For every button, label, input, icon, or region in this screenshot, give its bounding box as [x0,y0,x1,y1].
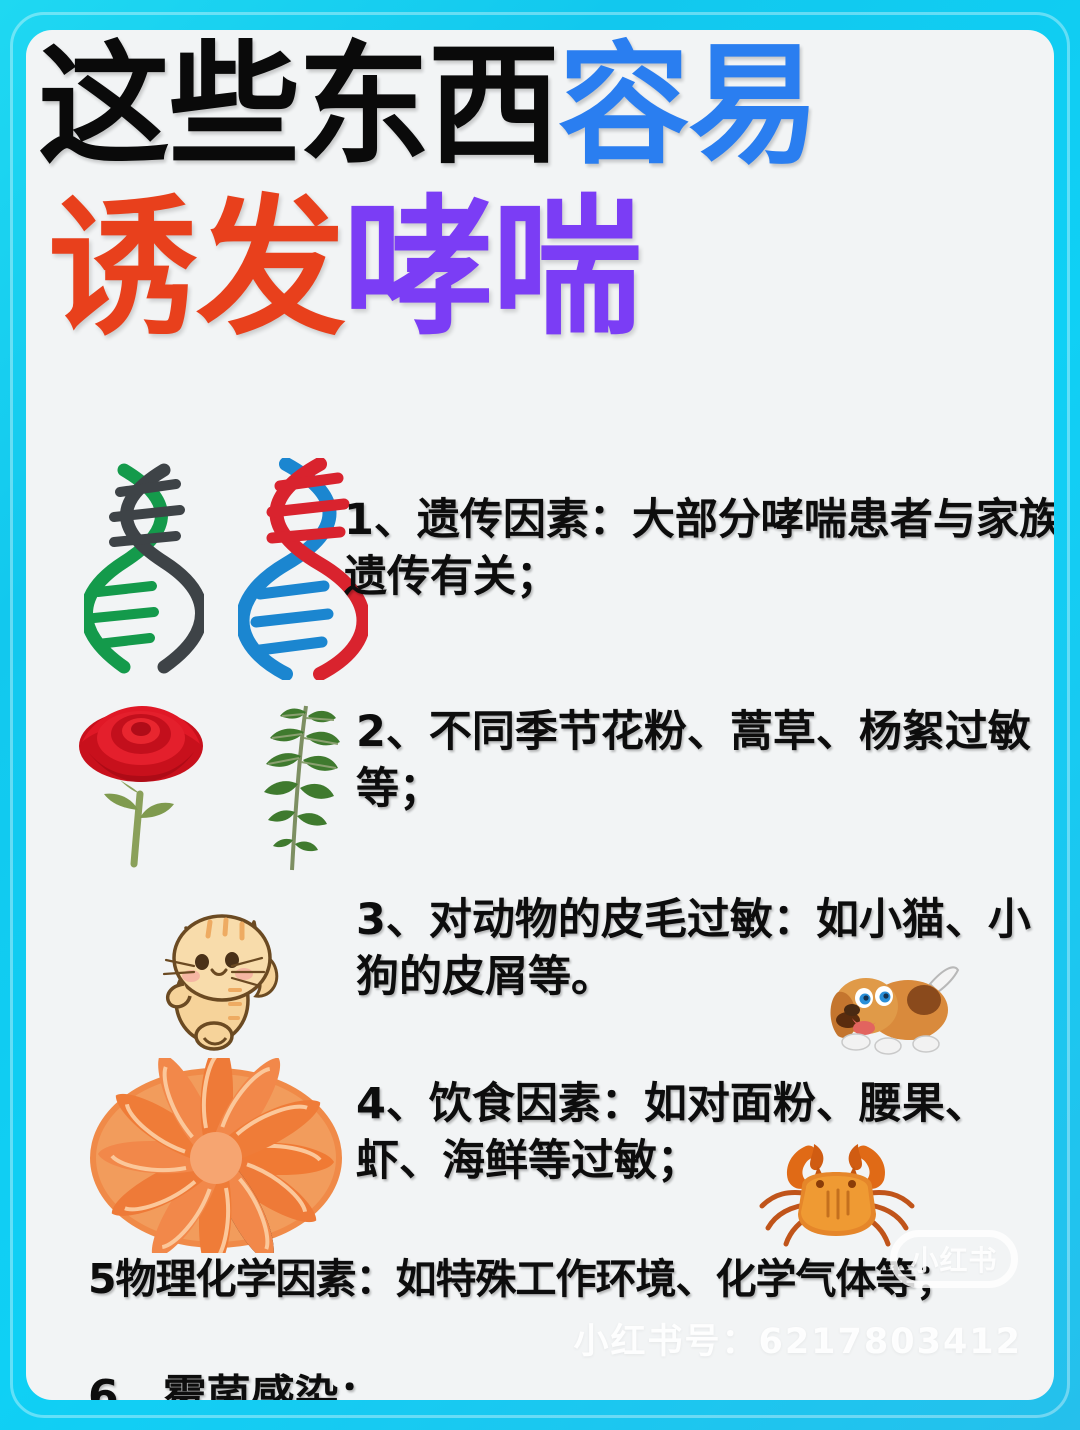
list-item-text-2: 2、不同季节花粉、蒿草、杨絮过敏等； [356,704,1054,818]
list-item-text-1: 1、遗传因素：大部分哮喘患者与家族遗传有关； [344,492,1054,606]
xiaohongshu-logo-label: 小红书 [910,1239,997,1279]
mugwort-plant-icon [234,698,354,873]
list-item: 1、遗传因素：大部分哮喘患者与家族遗传有关； [344,492,1054,606]
list-item: 4、饮食因素：如对面粉、腰果、虾、海鲜等过敏； [356,1076,1054,1190]
poster-card: 这些东西容易 诱发哮喘 [26,30,1054,1400]
list-item-text-6: 6、霉菌感染； [88,1368,383,1400]
list-item-text-4: 4、饮食因素：如对面粉、腰果、虾、海鲜等过敏； [356,1076,1054,1190]
list-item: 3、对动物的皮毛过敏：如小猫、小狗的皮屑等。 [356,892,1054,1006]
list-item-text-5: 5物理化学因素：如特殊工作环境、化学气体等； [88,1252,956,1306]
rose-icon [74,698,209,868]
title-text-trigger: 诱发 [48,182,344,356]
title-line-1: 这些东西容易 [26,40,1054,172]
title-text-easily: 容易 [558,30,818,183]
list-item: 2、不同季节花粉、蒿草、杨絮过敏等； [356,704,1054,818]
list-item-text-3: 3、对动物的皮毛过敏：如小猫、小狗的皮屑等。 [356,892,1054,1006]
list-item: 6、霉菌感染； [88,1368,608,1400]
shrimp-platter-icon [84,1058,349,1253]
title-text-these-things: 这些东西 [38,30,558,183]
xiaohongshu-account-watermark: 小红书号：6217803412 [573,1313,1022,1364]
page-title: 这些东西容易 诱发哮喘 [26,30,1054,344]
dna-helix-green-icon [84,462,204,677]
cat-icon [136,878,296,1053]
title-line-2: 诱发哮喘 [26,194,1054,344]
title-text-asthma: 哮喘 [344,182,640,356]
poster-frame: 这些东西容易 诱发哮喘 [0,0,1080,1430]
xiaohongshu-logo-watermark: 小红书 [890,1230,1018,1288]
